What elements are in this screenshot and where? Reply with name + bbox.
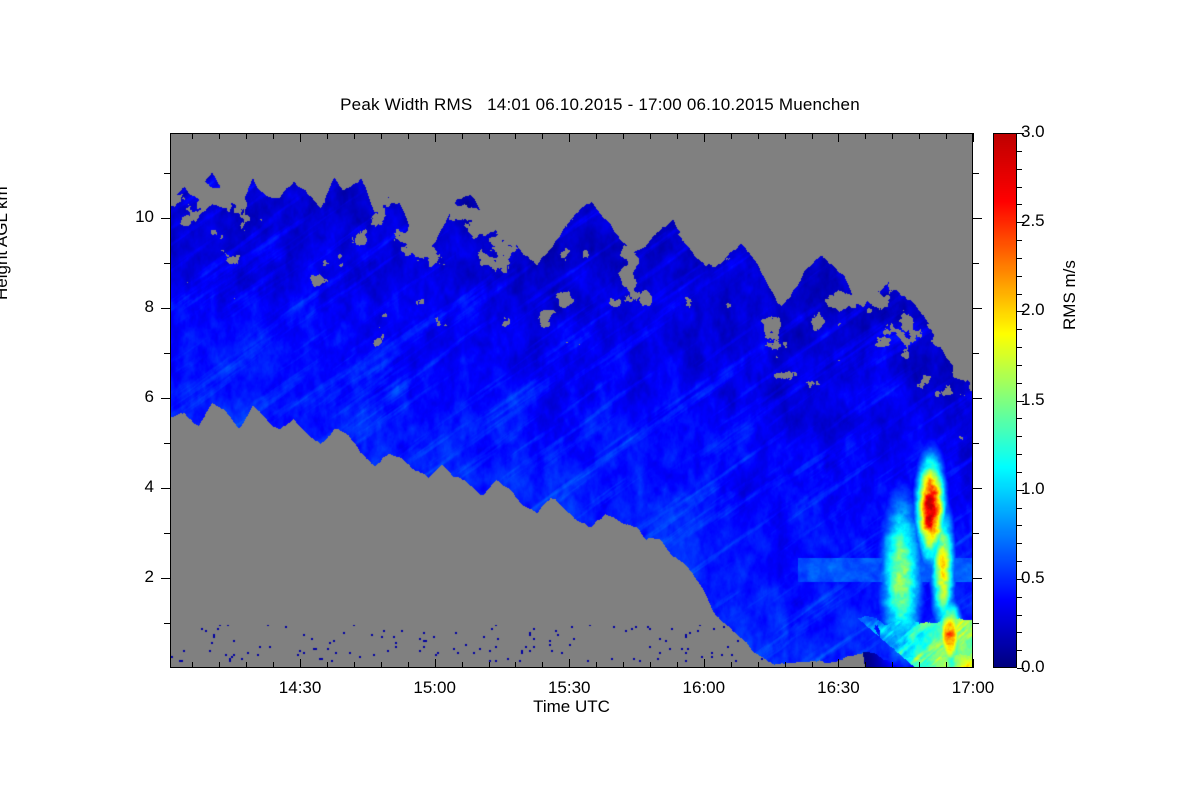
x-tick-major [569,133,570,142]
colorbar-tick-label: 2.0 [1021,300,1045,320]
colorbar [993,133,1017,668]
x-tick-minor [596,662,597,668]
x-tick-major [973,659,974,668]
x-tick-major [300,133,301,142]
y-tick-minor-right [973,443,979,444]
x-tick-minor [892,133,893,139]
x-tick-minor [515,662,516,668]
figure-canvas: Peak Width RMS 14:01 06.10.2015 - 17:00 … [0,0,1200,800]
y-tick-major-right [973,488,982,489]
y-tick-label: 10 [94,207,154,227]
colorbar-tick-label: 1.0 [1021,479,1045,499]
y-tick-minor-right [973,533,979,534]
x-tick-minor [623,133,624,139]
x-tick-minor [812,133,813,139]
x-tick-minor [892,662,893,668]
colorbar-title: RMS m/s [1060,260,1080,330]
colorbar-tick-minor [1017,597,1022,598]
y-tick-major [161,308,170,309]
colorbar-tick-minor [1017,436,1022,437]
colorbar-tick-minor [1017,561,1022,562]
y-tick-label: 4 [94,477,154,497]
x-tick-minor [812,662,813,668]
x-tick-minor [408,133,409,139]
y-tick-minor [164,353,170,354]
x-tick-minor [489,662,490,668]
x-tick-minor [192,133,193,139]
colorbar-tick-minor [1017,169,1022,170]
x-tick-minor [758,133,759,139]
x-tick-minor [650,133,651,139]
y-tick-minor [164,533,170,534]
x-tick-minor [408,662,409,668]
y-tick-minor [164,623,170,624]
x-tick-major [704,133,705,142]
x-tick-minor [731,662,732,668]
colorbar-tick-minor [1017,632,1022,633]
x-tick-major [838,133,839,142]
y-tick-label: 2 [94,567,154,587]
y-tick-minor [164,263,170,264]
x-tick-label: 14:30 [255,678,345,698]
x-tick-label: 16:00 [659,678,749,698]
x-tick-minor [731,133,732,139]
x-tick-minor [354,662,355,668]
colorbar-tick-minor [1017,151,1022,152]
x-tick-label: 16:30 [793,678,883,698]
x-tick-minor [919,133,920,139]
colorbar-tick-minor [1017,258,1022,259]
colorbar-tick-minor [1017,383,1022,384]
colorbar-tick-minor [1017,347,1022,348]
colorbar-tick-minor [1017,650,1022,651]
colorbar-tick-minor [1017,508,1022,509]
y-tick-minor [164,173,170,174]
colorbar-tick-label: 3.0 [1021,122,1045,142]
y-tick-minor-right [973,623,979,624]
y-tick-major-right [973,218,982,219]
x-tick-minor [677,133,678,139]
y-tick-major [161,578,170,579]
colorbar-gradient [994,134,1016,667]
y-tick-major-right [973,578,982,579]
x-tick-major [838,659,839,668]
colorbar-tick-minor [1017,240,1022,241]
colorbar-tick-label: 2.5 [1021,211,1045,231]
colorbar-tick-minor [1017,204,1022,205]
y-tick-major-right [973,308,982,309]
x-tick-minor [381,662,382,668]
x-tick-major [569,659,570,668]
colorbar-tick-minor [1017,365,1022,366]
y-tick-major [161,218,170,219]
colorbar-tick-label: 0.0 [1021,657,1045,677]
colorbar-tick-minor [1017,525,1022,526]
y-axis-title: Height AGL km [0,186,12,300]
x-tick-major [704,659,705,668]
y-tick-major-right [973,398,982,399]
colorbar-tick-label: 0.5 [1021,568,1045,588]
colorbar-tick-minor [1017,418,1022,419]
y-tick-minor-right [973,173,979,174]
x-tick-minor [946,662,947,668]
x-tick-major [973,133,974,142]
colorbar-tick-label: 1.5 [1021,390,1045,410]
x-tick-minor [354,133,355,139]
y-tick-major [161,398,170,399]
colorbar-tick-minor [1017,276,1022,277]
x-tick-minor [758,662,759,668]
y-tick-minor-right [973,263,979,264]
x-tick-label: 15:00 [390,678,480,698]
x-tick-minor [865,133,866,139]
x-tick-minor [919,662,920,668]
colorbar-tick-minor [1017,615,1022,616]
x-axis-title: Time UTC [0,697,1143,717]
x-tick-minor [677,662,678,668]
y-tick-label: 6 [94,387,154,407]
x-tick-minor [327,662,328,668]
x-tick-minor [946,133,947,139]
x-tick-major [300,659,301,668]
x-tick-minor [865,662,866,668]
chart-title: Peak Width RMS 14:01 06.10.2015 - 17:00 … [0,95,1200,115]
x-tick-minor [273,662,274,668]
y-tick-minor-right [973,353,979,354]
colorbar-tick-minor [1017,329,1022,330]
y-tick-label: 8 [94,297,154,317]
x-tick-minor [462,133,463,139]
x-tick-minor [515,133,516,139]
x-tick-minor [650,662,651,668]
x-tick-minor [219,662,220,668]
x-tick-minor [462,662,463,668]
plot-area [170,133,973,668]
y-tick-major [161,488,170,489]
x-tick-minor [623,662,624,668]
colorbar-tick-minor [1017,454,1022,455]
colorbar-tick-minor [1017,294,1022,295]
colorbar-tick-minor [1017,543,1022,544]
x-tick-minor [246,133,247,139]
x-tick-minor [219,133,220,139]
x-tick-minor [327,133,328,139]
x-tick-minor [381,133,382,139]
x-tick-minor [542,133,543,139]
x-tick-minor [246,662,247,668]
colorbar-tick-minor [1017,187,1022,188]
heatmap-image [171,134,972,667]
x-tick-major [435,133,436,142]
colorbar-tick-minor [1017,472,1022,473]
x-tick-minor [596,133,597,139]
x-tick-minor [192,662,193,668]
x-tick-minor [273,133,274,139]
x-tick-minor [785,662,786,668]
x-tick-minor [489,133,490,139]
x-tick-major [435,659,436,668]
x-tick-minor [542,662,543,668]
x-tick-label: 15:30 [524,678,614,698]
y-tick-minor [164,443,170,444]
x-tick-label: 17:00 [928,678,1018,698]
x-tick-minor [785,133,786,139]
